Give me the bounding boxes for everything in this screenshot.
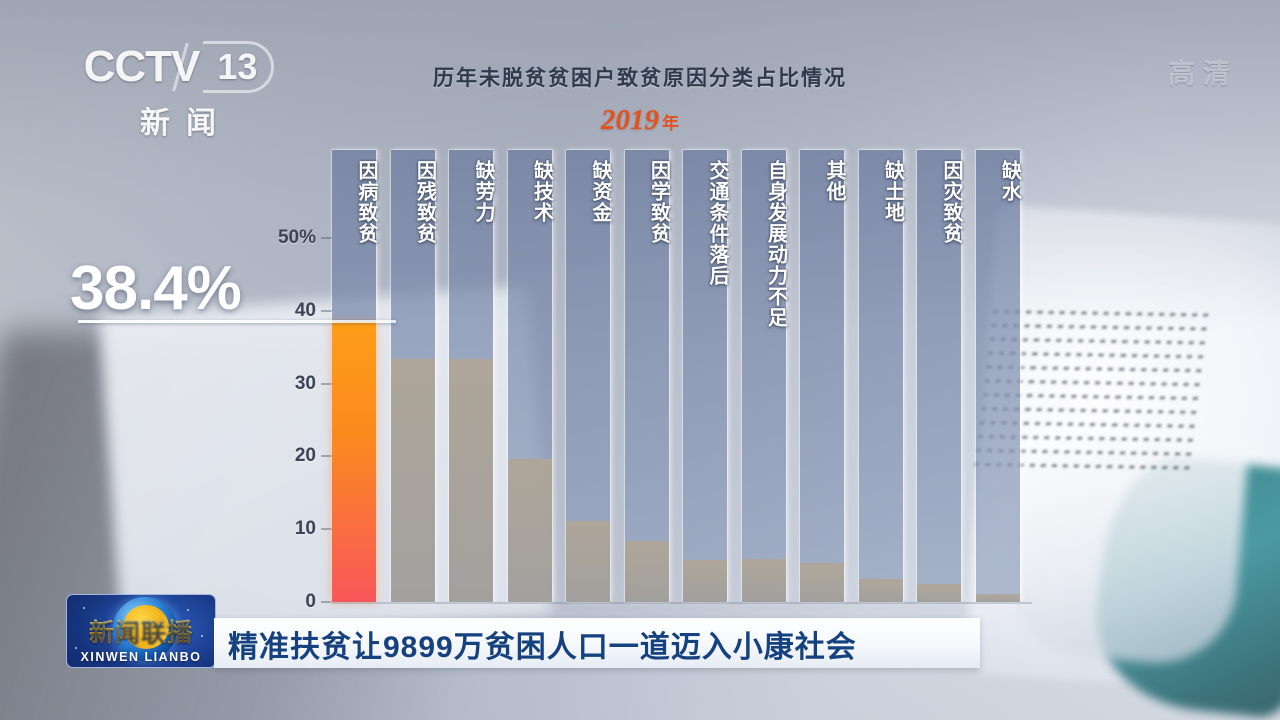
bar-value-fill [683,560,727,602]
y-axis-tick-label: 30 [295,373,316,395]
bar-column[interactable]: 缺水 [976,150,1020,602]
bar-column[interactable]: 缺劳力 [449,150,493,602]
bar-category-label: 缺劳力 [449,160,493,223]
bar-value-fill [332,322,376,602]
bar-value-fill [508,459,552,602]
callout-rule [78,320,396,323]
bar-category-label: 自身发展动力不足 [742,160,786,328]
bar-category-label: 缺技术 [508,160,552,223]
bar-category-label: 其他 [800,160,844,202]
bar-category-label: 缺资金 [566,160,610,223]
program-name-cn: 新闻联播 [67,613,215,649]
y-axis-tick-mark [321,383,332,385]
bar-value-fill [625,541,669,602]
bar-category-label: 交通条件落后 [683,160,727,286]
y-axis-tick-label: 10 [295,518,316,540]
callout-value: 38.4% [70,258,340,320]
bar-track [800,150,844,602]
bar-column[interactable]: 因残致贫 [391,150,435,602]
bar-column[interactable]: 自身发展动力不足 [742,150,786,602]
bar-category-label: 因残致贫 [391,160,435,244]
bar-category-label: 因学致贫 [625,160,669,244]
bar-column[interactable]: 因学致贫 [625,150,669,602]
bar-column[interactable]: 缺技术 [508,150,552,602]
chart-year-unit: 年 [662,114,679,133]
y-axis-tick-label: 50% [278,227,316,249]
bar-value-fill [391,359,435,602]
y-axis-tick-mark [321,237,332,239]
bar-column[interactable]: 交通条件落后 [683,150,727,602]
program-name-en: XINWEN LIANBO [67,650,215,664]
bar-value-fill [449,359,493,602]
chart-subtitle: 2019年 [0,104,1280,137]
y-axis: 01020304050% [262,150,332,610]
bar-column[interactable]: 缺土地 [859,150,903,602]
headline-text: 精准扶贫让9899万贫困人口一道迈入小康社会 [214,622,857,666]
bar-category-label: 因灾致贫 [917,160,961,244]
program-logo: 新闻联播 XINWEN LIANBO [66,594,216,668]
bar-track [976,150,1020,602]
bar-series: 因病致贫因残致贫缺劳力缺技术缺资金因学致贫交通条件落后自身发展动力不足其他缺土地… [332,150,1032,602]
bar-category-label: 缺土地 [859,160,903,223]
bar-value-fill [566,521,610,602]
bar-value-fill [800,563,844,602]
chart-year: 2019 [601,104,659,136]
y-axis-tick-label: 20 [295,445,316,467]
y-axis-tick-mark [321,528,332,530]
bar-value-fill [742,559,786,602]
bar-category-label: 因病致贫 [332,160,376,244]
highlight-callout: 38.4% [70,258,340,320]
bar-category-label: 缺水 [976,160,1020,202]
headline-banner: 精准扶贫让9899万贫困人口一道迈入小康社会 [214,618,980,668]
bar-value-fill [859,579,903,602]
bar-column[interactable]: 因病致贫 [332,150,376,602]
y-axis-tick-mark [321,455,332,457]
bar-column[interactable]: 其他 [800,150,844,602]
lower-third: 新闻联播 XINWEN LIANBO 精准扶贫让9899万贫困人口一道迈入小康社… [0,600,1280,720]
broadcast-screen: CCTV 13 新闻 高清 历年未脱贫贫困户致贫原因分类占比情况 2019年 0… [0,0,1280,720]
bar-column[interactable]: 因灾致贫 [917,150,961,602]
chart-title: 历年未脱贫贫困户致贫原因分类占比情况 [0,62,1280,92]
bar-column[interactable]: 缺资金 [566,150,610,602]
